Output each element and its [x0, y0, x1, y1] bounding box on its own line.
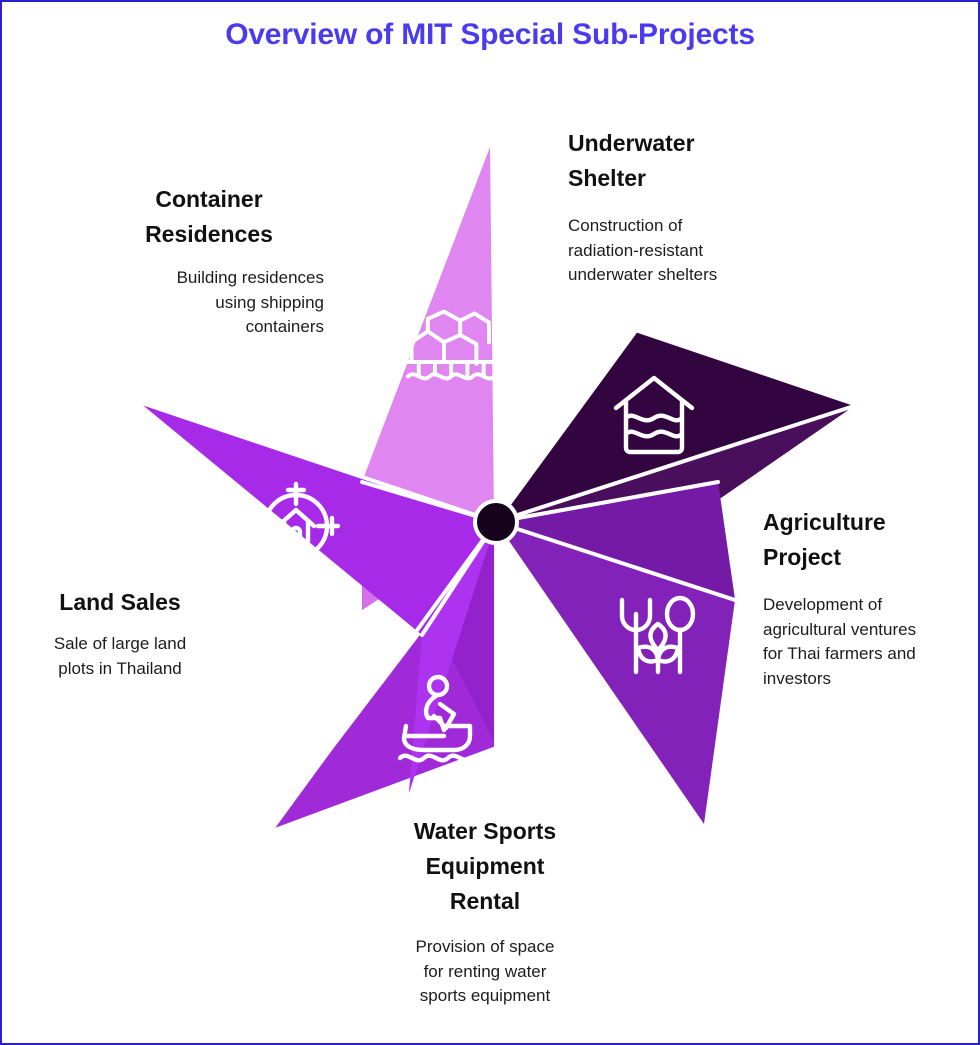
label-description: Construction of radiation-resistant unde… [568, 214, 828, 288]
label-heading: Water Sports Equipment Rental [374, 814, 596, 919]
label-description: Sale of large land plots in Thailand [10, 632, 230, 681]
label-description: Provision of space for renting water spo… [374, 935, 596, 1009]
label-description: Development of agricultural ventures for… [763, 593, 980, 692]
label-heading: Container Residences [94, 182, 324, 252]
diagram-page: Overview of MIT Special Sub-Projects .fo… [0, 0, 980, 1045]
label-description: Building residences using shipping conta… [94, 266, 324, 340]
label-heading: Land Sales [10, 585, 230, 620]
label-underwater-shelter: Underwater Shelter Construction of radia… [568, 126, 828, 288]
label-agriculture-project: Agriculture Project Development of agric… [763, 505, 980, 691]
label-water-sports-equipment-rental: Water Sports Equipment Rental Provision … [374, 814, 596, 1009]
label-container-residences: Container Residences Building residences… [94, 182, 324, 340]
label-heading: Underwater Shelter [568, 126, 828, 196]
label-land-sales: Land Sales Sale of large land plots in T… [10, 585, 230, 681]
hub-circle [475, 501, 517, 543]
label-heading: Agriculture Project [763, 505, 980, 575]
